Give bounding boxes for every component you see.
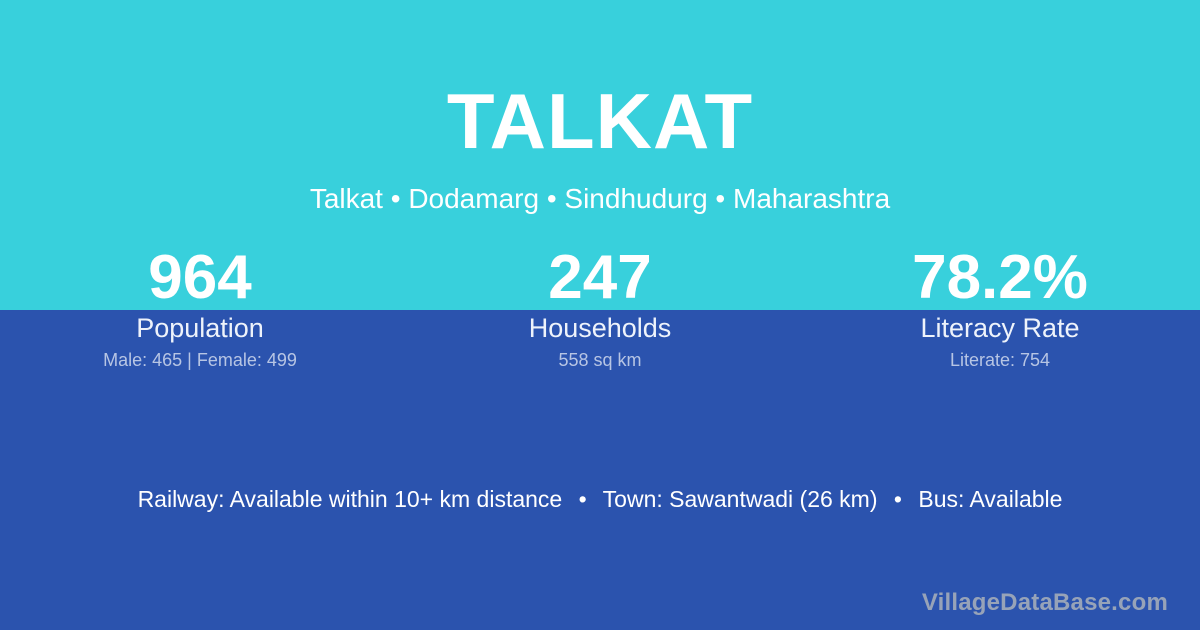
stat-households: 247 Households 558 sq km — [400, 246, 800, 371]
separator-bullet-icon: • — [884, 484, 912, 514]
stats-row: 964 Population Male: 465 | Female: 499 2… — [0, 246, 1200, 371]
stat-sublabel: 558 sq km — [400, 349, 800, 371]
stat-value: 247 — [400, 246, 800, 310]
stat-value: 78.2% — [800, 246, 1200, 310]
separator-bullet-icon: • — [569, 484, 597, 514]
stat-label: Literacy Rate — [800, 312, 1200, 344]
bus-info: Bus: Available — [918, 486, 1062, 512]
breadcrumb: Talkat • Dodamarg • Sindhudurg • Maharas… — [0, 182, 1200, 216]
stat-label: Households — [400, 312, 800, 344]
brand-watermark: VillageDataBase.com — [922, 588, 1168, 618]
village-summary-card: TALKAT Talkat • Dodamarg • Sindhudurg • … — [0, 0, 1200, 630]
stat-sublabel: Literate: 754 — [800, 349, 1200, 371]
stat-sublabel: Male: 465 | Female: 499 — [0, 349, 400, 371]
infrastructure-line: Railway: Available within 10+ km distanc… — [0, 484, 1200, 514]
stat-population: 964 Population Male: 465 | Female: 499 — [0, 246, 400, 371]
stat-literacy-rate: 78.2% Literacy Rate Literate: 754 — [800, 246, 1200, 371]
page-title: TALKAT — [0, 82, 1200, 160]
stat-label: Population — [0, 312, 400, 344]
stat-value: 964 — [0, 246, 400, 310]
railway-info: Railway: Available within 10+ km distanc… — [138, 486, 563, 512]
town-info: Town: Sawantwadi (26 km) — [603, 486, 878, 512]
